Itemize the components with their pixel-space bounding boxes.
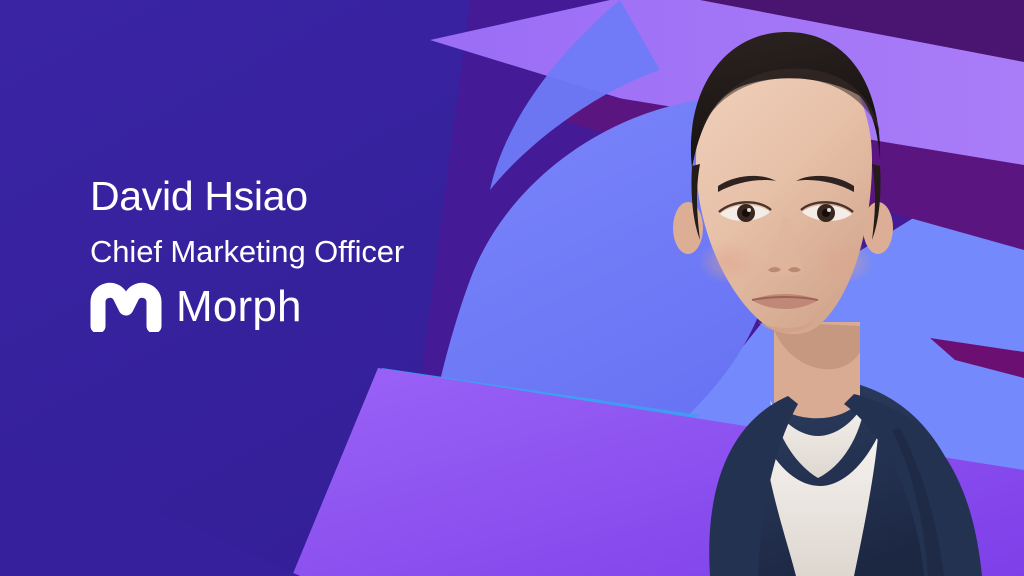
cheek-right xyxy=(814,240,874,284)
morph-m-logomark-icon xyxy=(90,282,162,332)
portrait-body xyxy=(709,322,982,576)
brand-lockup: Morph xyxy=(90,282,510,332)
speaker-title: Chief Marketing Officer xyxy=(90,236,510,269)
speaker-info-block: David Hsiao Chief Marketing Officer Morp… xyxy=(90,176,510,332)
portrait-head xyxy=(673,32,893,334)
speaker-card: David Hsiao Chief Marketing Officer Morp… xyxy=(0,0,1024,576)
speaker-portrait xyxy=(592,0,1024,576)
speaker-name: David Hsiao xyxy=(90,176,510,218)
brand-name: Morph xyxy=(176,285,302,329)
cheek-left xyxy=(698,240,758,284)
